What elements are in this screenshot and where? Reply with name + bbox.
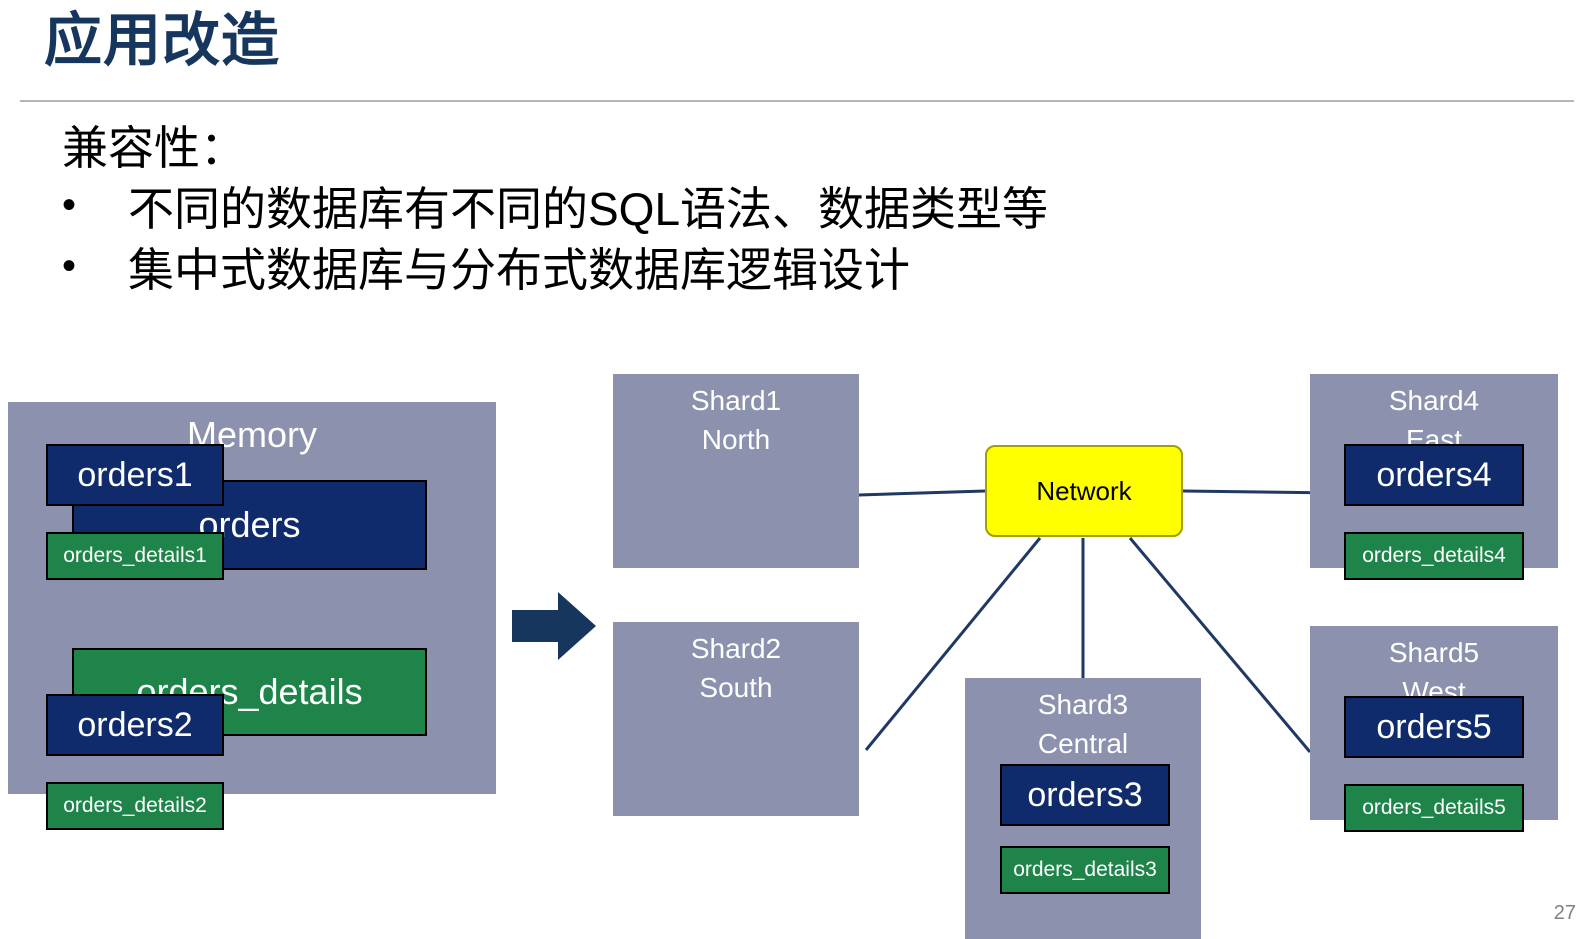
bullet-item: • 不同的数据库有不同的SQL语法、数据类型等 bbox=[62, 179, 1048, 240]
architecture-diagram: Memory orders orders_details Shard1 Nort… bbox=[0, 360, 1594, 939]
shard2-label: Shard2 South bbox=[613, 622, 859, 707]
table-orders2: orders2 bbox=[46, 694, 224, 756]
bullet-marker-icon: • bbox=[62, 240, 128, 293]
right-arrow-icon bbox=[512, 592, 596, 660]
page-title: 应用改造 bbox=[44, 8, 280, 75]
body-heading: 兼容性： bbox=[62, 118, 1048, 179]
table-orders-details3: orders_details3 bbox=[1000, 846, 1170, 894]
shard1-panel: Shard1 North bbox=[613, 374, 859, 568]
table-orders-details1: orders_details1 bbox=[46, 532, 224, 580]
bullet-marker-icon: • bbox=[62, 179, 128, 232]
table-orders1: orders1 bbox=[46, 444, 224, 506]
table-orders3: orders3 bbox=[1000, 764, 1170, 826]
table-orders-details2: orders_details2 bbox=[46, 782, 224, 830]
body-text-block: 兼容性： • 不同的数据库有不同的SQL语法、数据类型等 • 集中式数据库与分布… bbox=[62, 118, 1048, 302]
table-orders5: orders5 bbox=[1344, 696, 1524, 758]
bullet-text: 集中式数据库与分布式数据库逻辑设计 bbox=[128, 240, 910, 301]
table-orders-details5: orders_details5 bbox=[1344, 784, 1524, 832]
table-orders-details4: orders_details4 bbox=[1344, 532, 1524, 580]
network-node: Network bbox=[985, 445, 1183, 537]
title-divider bbox=[20, 100, 1574, 102]
shard2-panel: Shard2 South bbox=[613, 622, 859, 816]
bullet-text: 不同的数据库有不同的SQL语法、数据类型等 bbox=[128, 179, 1048, 240]
slide-number: 27 bbox=[1554, 902, 1576, 925]
shard1-label: Shard1 North bbox=[613, 374, 859, 459]
shard3-label: Shard3 Central bbox=[965, 678, 1201, 763]
table-orders4: orders4 bbox=[1344, 444, 1524, 506]
bullet-item: • 集中式数据库与分布式数据库逻辑设计 bbox=[62, 240, 1048, 301]
